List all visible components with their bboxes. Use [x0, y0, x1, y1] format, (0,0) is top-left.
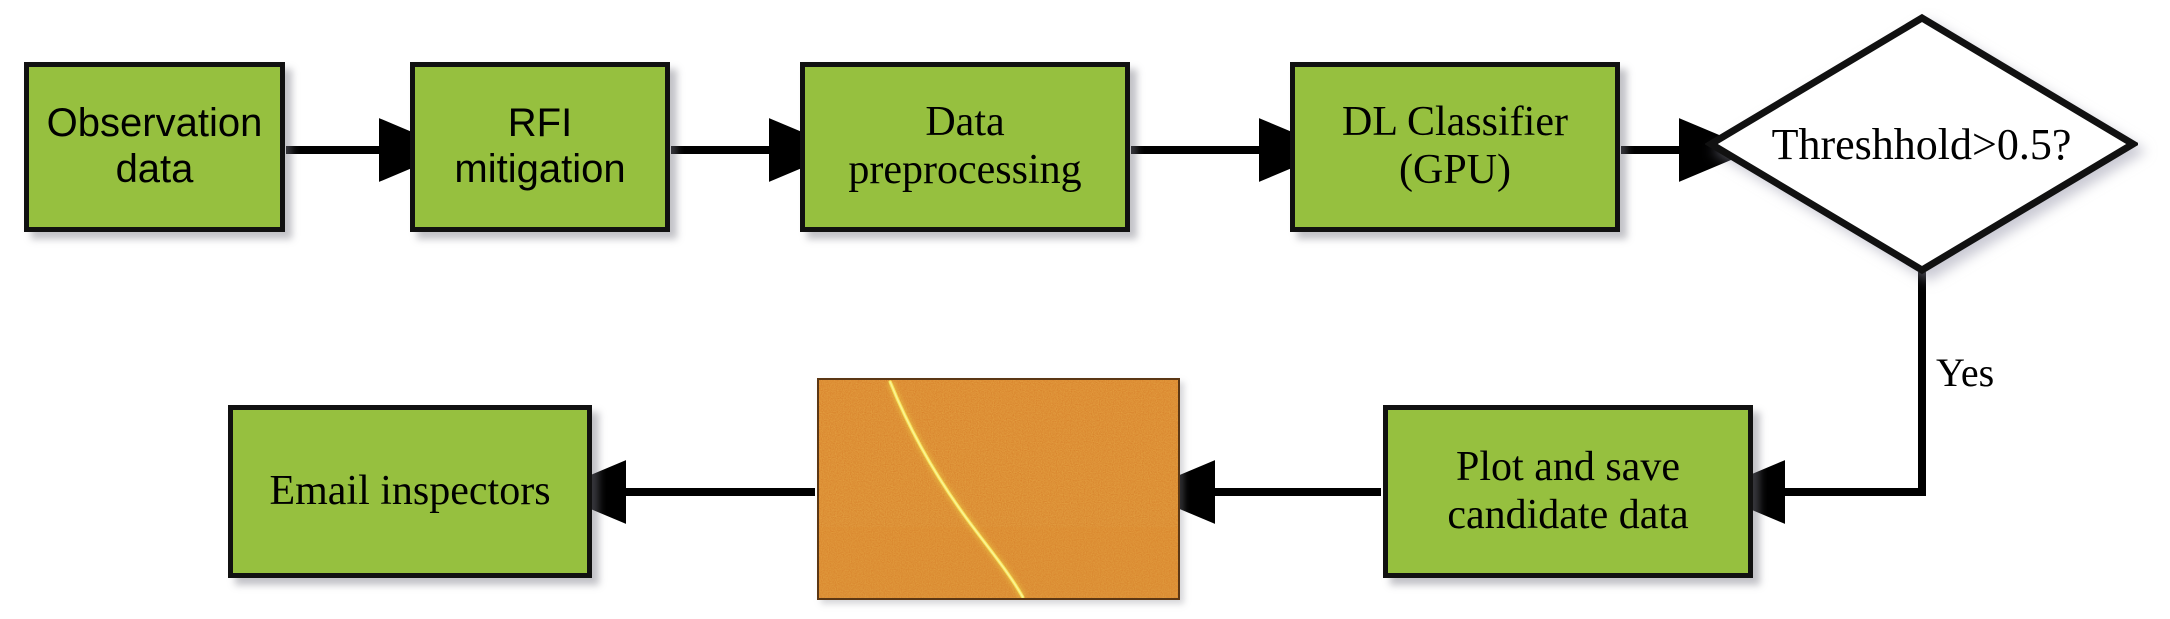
node-observation-data[interactable]: Observationdata — [24, 62, 285, 232]
node-rfi-mitigation-label: RFI mitigation — [421, 101, 659, 192]
node-dl-classifier[interactable]: DL Classifier(GPU) — [1290, 62, 1620, 232]
node-data-preprocessing-label: Datapreprocessing — [848, 99, 1081, 195]
flowchart-canvas: Observationdata RFI mitigation Dataprepr… — [0, 0, 2170, 619]
node-dl-classifier-label: DL Classifier(GPU) — [1342, 99, 1568, 195]
node-threshold-decision-label: Threshhold>0.5? — [1705, 13, 2138, 275]
node-email-inspectors-label: Email inspectors — [269, 468, 550, 516]
node-plot-save-candidate-data-label: Plot and savecandidate data — [1447, 444, 1688, 540]
arrow-threshold-yes-to-plot-save — [1782, 272, 1922, 492]
node-observation-data-label: Observationdata — [47, 101, 263, 192]
node-plot-save-candidate-data[interactable]: Plot and savecandidate data — [1383, 405, 1753, 578]
node-rfi-mitigation[interactable]: RFI mitigation — [410, 62, 670, 232]
edge-label-yes: Yes — [1936, 349, 1994, 396]
node-threshold-decision[interactable]: Threshhold>0.5? — [1705, 13, 2138, 275]
spectrogram-graphic — [819, 380, 1178, 598]
node-email-inspectors[interactable]: Email inspectors — [228, 405, 592, 578]
node-data-preprocessing[interactable]: Datapreprocessing — [800, 62, 1130, 232]
candidate-plot-image — [817, 378, 1180, 600]
